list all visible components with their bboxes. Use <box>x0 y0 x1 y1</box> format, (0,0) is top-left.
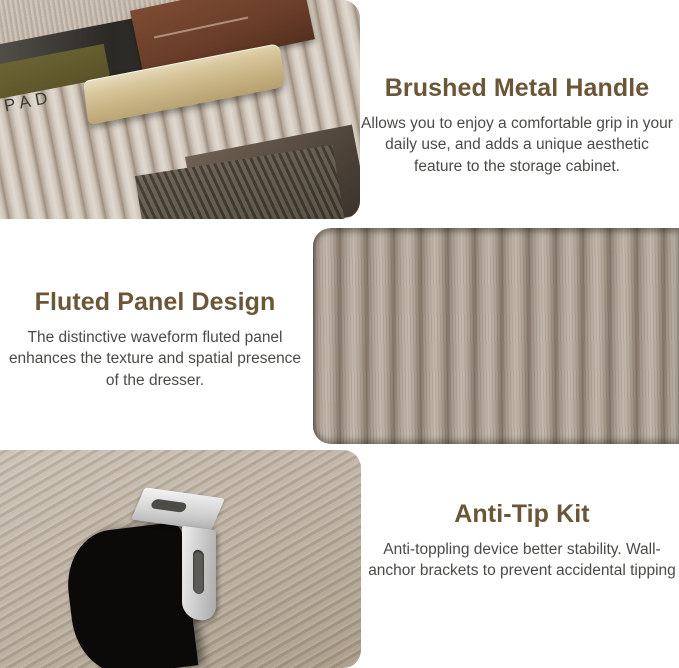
bracket-screw-slot-side <box>193 549 204 594</box>
bracket-screw-slot-top <box>150 499 188 513</box>
photo-fluted-panel-design <box>313 228 679 444</box>
feature-description: Allows you to enjoy a comfortable grip i… <box>360 113 674 177</box>
wood-grain-overlay <box>313 228 679 444</box>
feature-title: Fluted Panel Design <box>4 288 306 317</box>
anti-tip-bracket-vertical-flange <box>182 526 216 622</box>
feature-text-fluted-panel-design: Fluted Panel Design The distinctive wave… <box>4 288 306 391</box>
feature-title: Brushed Metal Handle <box>360 74 674 103</box>
feature-description: Anti-toppling device better stability. W… <box>368 539 676 582</box>
cabinet-back-cutout <box>62 521 199 668</box>
feature-text-brushed-metal-handle: Brushed Metal Handle Allows you to enjoy… <box>360 74 674 177</box>
feature-description: The distinctive waveform fluted panel en… <box>4 327 306 391</box>
photo-anti-tip-kit <box>0 450 361 668</box>
anti-tip-bracket-top-flange <box>131 487 225 530</box>
photo-brushed-metal-handle: PAD <box>0 0 360 219</box>
feature-title: Anti-Tip Kit <box>368 500 676 529</box>
feature-text-anti-tip-kit: Anti-Tip Kit Anti-toppling device better… <box>368 500 676 582</box>
